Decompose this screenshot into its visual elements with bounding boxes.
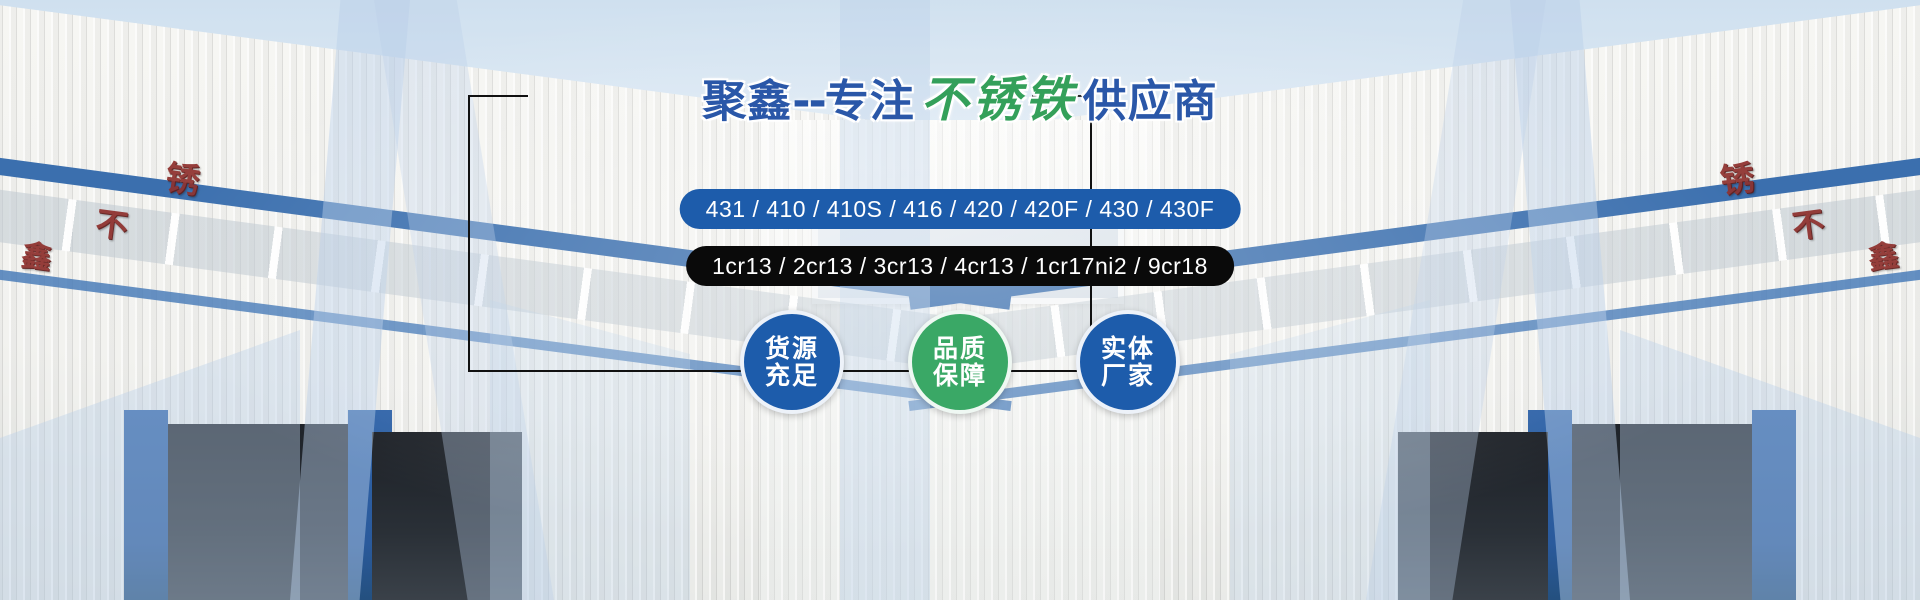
headline-dash: -- [792, 76, 825, 127]
feature-badge-group: 货源 充足 品质 保障 实体 厂家 [0, 310, 1920, 414]
badge-factory-line2: 厂家 [1101, 361, 1155, 390]
headline-supplier: 供应商 [1083, 76, 1218, 127]
headline-highlight: 不锈铁 [921, 72, 1077, 128]
headline-focus: 专注 [825, 76, 915, 127]
badge-supply: 货源 充足 [740, 310, 844, 414]
badge-factory-line1: 实体 [1101, 334, 1155, 363]
headline-brand: 聚鑫 [702, 76, 792, 127]
banner-content: 聚鑫--专注不锈铁供应商 431 / 410 / 410S / 416 / 42… [0, 0, 1920, 600]
grade-bar-primary: 431 / 410 / 410S / 416 / 420 / 420F / 43… [680, 189, 1241, 229]
promo-banner: 锈 不 鑫 锈 不 鑫 聚鑫--专注不锈铁供应商 431 / 410 / 410… [0, 0, 1920, 600]
badge-quality: 品质 保障 [908, 310, 1012, 414]
badge-quality-line2: 保障 [933, 361, 987, 390]
badge-quality-line1: 品质 [933, 334, 987, 363]
grade-bar-secondary: 1cr13 / 2cr13 / 3cr13 / 4cr13 / 1cr17ni2… [686, 246, 1234, 286]
badge-factory: 实体 厂家 [1076, 310, 1180, 414]
badge-supply-line2: 充足 [765, 361, 819, 390]
badge-supply-line1: 货源 [765, 334, 819, 363]
headline: 聚鑫--专注不锈铁供应商 [0, 74, 1920, 128]
